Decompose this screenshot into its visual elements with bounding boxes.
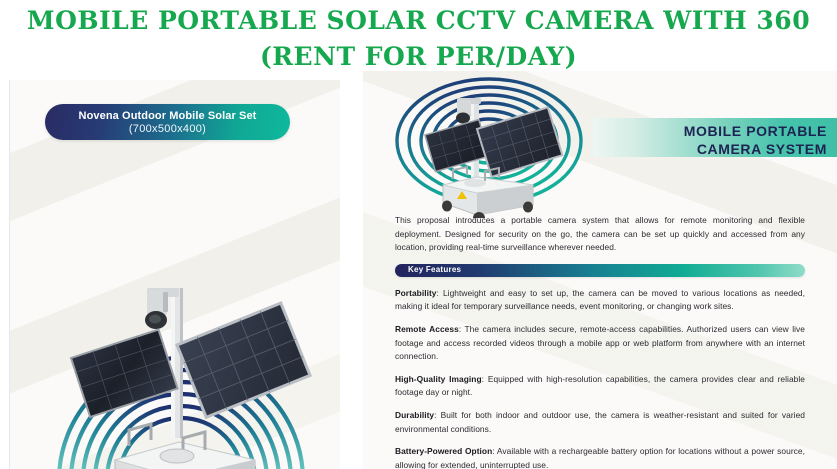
document-header-title: MOBILE PORTABLE CAMERA SYSTEM	[684, 123, 827, 158]
key-features-bar: Key Features	[395, 264, 805, 277]
document-header-line-1: MOBILE PORTABLE	[684, 123, 827, 141]
feature-item: Battery-Powered Option: Available with a…	[395, 445, 805, 469]
product-label-pill: Novena Outdoor Mobile Solar Set (700x500…	[45, 104, 290, 140]
page-title-line-1: Mobile Portable Solar CCTV Camera with 3…	[0, 0, 837, 33]
proposal-document-panel: MOBILE PORTABLE CAMERA SYSTEM This propo…	[363, 71, 837, 469]
feature-text: Built for both indoor and outdoor use, t…	[395, 410, 805, 434]
page-title: Mobile Portable Solar CCTV Camera with 3…	[0, 0, 837, 78]
mobile-camera-system-photo	[381, 73, 597, 218]
product-label-title: Novena Outdoor Mobile Solar Set	[45, 104, 290, 122]
product-label-dimensions: (700x500x400)	[45, 122, 290, 135]
page-title-line-2: (Rent for Per/Day)	[0, 33, 837, 69]
feature-term: Durability	[395, 410, 434, 420]
feature-term: Portability	[395, 288, 437, 298]
mobile-solar-cctv-cart-photo	[19, 230, 340, 469]
feature-item: High-Quality Imaging: Equipped with high…	[395, 373, 805, 400]
feature-text: Lightweight and easy to set up, the came…	[395, 288, 805, 312]
feature-term: Remote Access	[395, 324, 459, 334]
document-body: This proposal introduces a portable came…	[395, 214, 805, 469]
feature-term: Battery-Powered Option	[395, 446, 492, 456]
feature-item: Portability: Lightweight and easy to set…	[395, 287, 805, 314]
document-header-band: MOBILE PORTABLE CAMERA SYSTEM	[593, 118, 837, 157]
key-features-label: Key Features	[408, 265, 461, 274]
intro-paragraph: This proposal introduces a portable came…	[395, 214, 805, 255]
feature-item: Remote Access: The camera includes secur…	[395, 323, 805, 364]
feature-item: Durability: Built for both indoor and ou…	[395, 409, 805, 436]
document-header-line-2: CAMERA SYSTEM	[684, 141, 827, 159]
feature-term: High-Quality Imaging	[395, 374, 482, 384]
